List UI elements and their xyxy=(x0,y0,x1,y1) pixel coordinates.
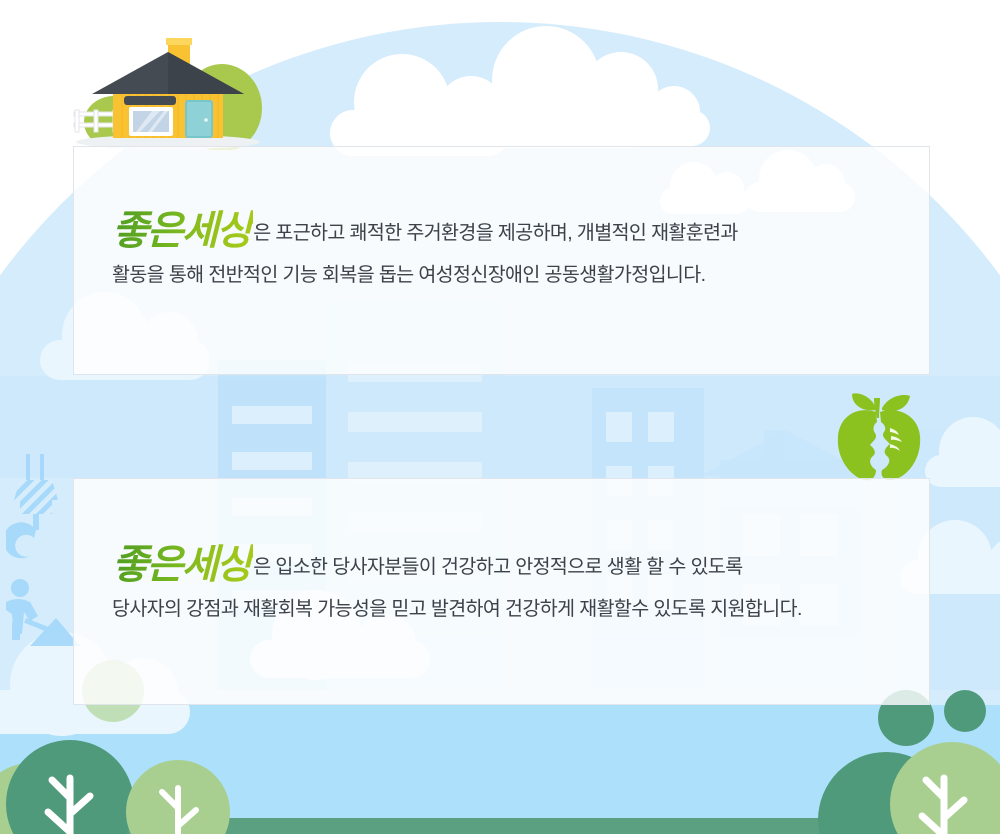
intro-paragraph-housing: 좋은세상은 포근하고 쾌적한 주거환경을 제공하며, 개별적인 재활훈련과 활동… xyxy=(112,211,903,295)
leaf-left xyxy=(852,393,876,410)
leaf-right xyxy=(882,395,910,411)
worker-digging-icon xyxy=(0,578,80,648)
tree-light-right xyxy=(890,742,1000,834)
apple-half-left xyxy=(838,410,877,480)
brand-name-text: 좋은세상 xyxy=(112,542,253,588)
brand-name-text: 좋은세상 xyxy=(112,208,253,254)
cloud-icon xyxy=(560,110,710,146)
tree-light-left xyxy=(126,760,230,834)
cloud-icon xyxy=(925,455,1000,487)
awning xyxy=(124,96,176,105)
yellow-house-illustration xyxy=(72,38,264,150)
intro-panel-housing: 좋은세상은 포근하고 쾌적한 주거환경을 제공하며, 개별적인 재활훈련과 활동… xyxy=(73,146,930,375)
intro-panel-support: 좋은세상은 입소한 당사자분들이 건강하고 안정적으로 생활 할 수 있도록 당… xyxy=(73,478,930,705)
page-canvas: 좋은세상은 포근하고 쾌적한 주거환경을 제공하며, 개별적인 재활훈련과 활동… xyxy=(0,0,1000,834)
tree-dot-right xyxy=(944,690,986,732)
apple-faces-logo xyxy=(830,388,926,482)
intro-line1-rest: 은 포근하고 쾌적한 주거환경을 제공하며, 개별적인 재활훈련과 xyxy=(253,222,738,244)
intro-paragraph-support: 좋은세상은 입소한 당사자분들이 건강하고 안정적으로 생활 할 수 있도록 당… xyxy=(112,545,903,629)
apple-half-right xyxy=(880,410,920,480)
tree-dark-left xyxy=(6,740,134,834)
crane-hook-icon xyxy=(6,452,76,582)
intro-line2: 활동을 통해 전반적인 기능 회복을 돕는 여성정신장애인 공동생활가정입니다. xyxy=(112,255,903,295)
support-line2: 당사자의 강점과 재활회복 가능성을 믿고 발견하여 건강하게 재활할수 있도록… xyxy=(112,589,903,629)
support-line1-rest: 은 입소한 당사자분들이 건강하고 안정적으로 생활 할 수 있도록 xyxy=(253,556,742,578)
